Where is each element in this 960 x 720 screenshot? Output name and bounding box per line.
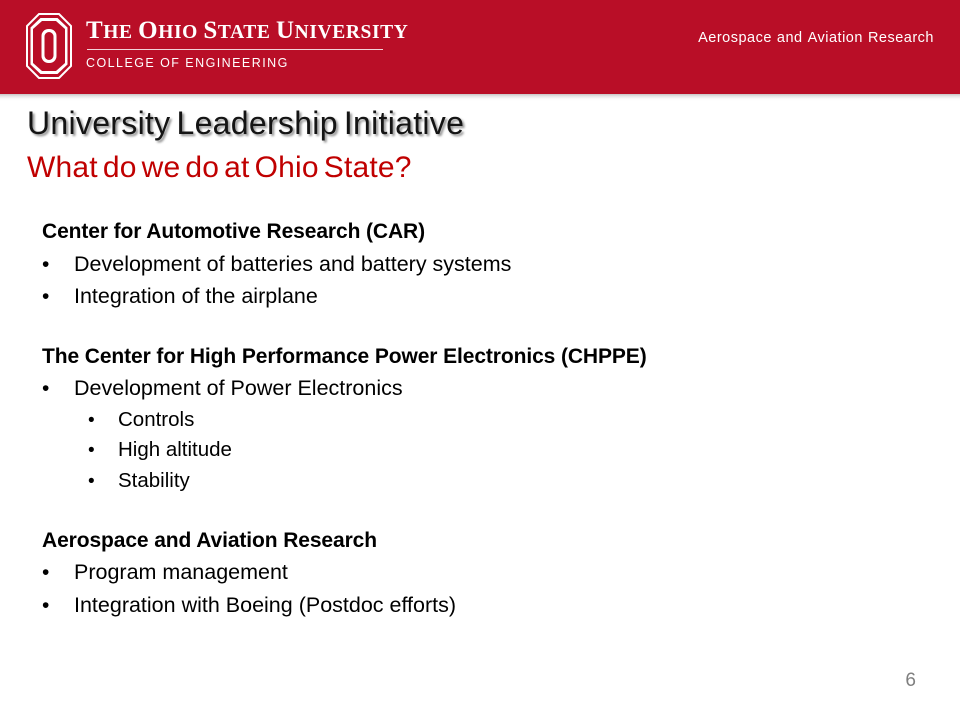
bullet-text: High altitude [118,435,232,466]
bullet-point-icon: • [88,437,118,466]
section-spacer [42,497,922,525]
wordmark-divider-rule [87,49,383,50]
slide-body-content: Center for Automotive Research (CAR) • D… [42,216,922,621]
bullet-text: Development of batteries and battery sys… [74,248,511,280]
header-label-word-1: Aerospace [698,30,772,46]
bullet-item: • Development of batteries and battery s… [42,248,922,281]
header-label-word-4: Research [868,30,934,46]
bullet-point-icon: • [42,249,74,281]
bullet-text: Development of Power Electronics [74,372,403,404]
slide-subtitle-word-3: we [142,151,181,184]
ohio-state-block-o-icon [26,13,72,79]
sub-bullet-item: • Stability [42,466,922,497]
bullet-point-icon: • [42,373,74,405]
bullet-item: • Program management [42,556,922,589]
slide-subtitle-word-1: What [27,151,98,184]
bullet-point-icon: • [42,281,74,313]
section-heading: Aerospace and Aviation Research [42,525,922,557]
ohio-state-logo-lockup: THE OHIO STATE UNIVERSITY COLLEGE OF ENG… [26,13,408,79]
slide-subtitle-word-6: Ohio [255,151,319,184]
section-heading: The Center for High Performance Power El… [42,341,922,373]
slide-title-word-3: Initiative [344,105,464,141]
slide-title: UniversityLeadershipInitiative [27,105,470,142]
university-wordmark: THE OHIO STATE UNIVERSITY COLLEGE OF ENG… [86,18,408,70]
slide-subtitle-word-5: at [224,151,249,184]
bullet-text: Program management [74,556,288,588]
bullet-point-icon: • [88,468,118,497]
header-project-label: AerospaceandAviationResearch [698,30,934,46]
header-label-word-2: and [777,30,803,46]
bullet-point-icon: • [42,590,74,622]
bullet-point-icon: • [88,407,118,436]
bullet-item: • Development of Power Electronics [42,372,922,405]
bullet-text: Controls [118,405,194,436]
slide-title-word-1: University [27,105,170,141]
sub-bullet-item: • High altitude [42,435,922,466]
section-heading: Center for Automotive Research (CAR) [42,216,922,248]
bullet-text: Stability [118,466,190,497]
page-number: 6 [905,670,916,692]
header-drop-shadow [0,94,960,101]
slide-subtitle: WhatdowedoatOhioState? [27,151,417,185]
bullet-item: • Integration with Boeing (Postdoc effor… [42,589,922,622]
header-label-word-3: Aviation [808,30,863,46]
bullet-text: Integration with Boeing (Postdoc efforts… [74,589,456,621]
sub-bullet-item: • Controls [42,405,922,436]
bullet-text: Integration of the airplane [74,280,318,312]
slide-subtitle-word-2: do [103,151,137,184]
section-spacer [42,313,922,341]
wordmark-college-name: COLLEGE OF ENGINEERING [86,56,408,70]
wordmark-university-name: THE OHIO STATE UNIVERSITY [86,18,408,44]
content-section: The Center for High Performance Power El… [42,341,922,497]
slide-subtitle-word-7: State? [324,151,412,184]
presentation-slide: THE OHIO STATE UNIVERSITY COLLEGE OF ENG… [0,0,960,720]
bullet-item: • Integration of the airplane [42,280,922,313]
bullet-point-icon: • [42,557,74,589]
content-section: Aerospace and Aviation Research • Progra… [42,525,922,622]
slide-title-word-2: Leadership [176,105,337,141]
content-section: Center for Automotive Research (CAR) • D… [42,216,922,313]
slide-subtitle-word-4: do [185,151,219,184]
